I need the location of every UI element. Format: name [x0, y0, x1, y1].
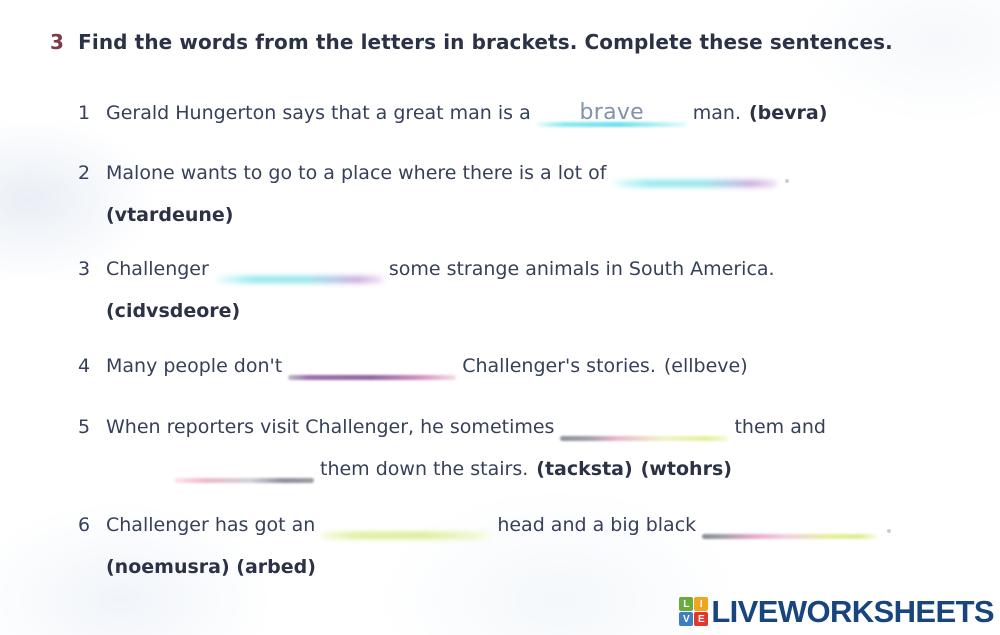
question-3-text-b: some strange animals in South America. [389, 248, 775, 290]
question-1-text-a: Gerald Hungerton says that a great man i… [106, 92, 531, 134]
cursor-dot-icon [887, 529, 891, 533]
answer-value-1: brave [579, 100, 644, 126]
answer-rule-6a [321, 532, 491, 539]
answer-rule-5b [174, 478, 314, 483]
question-2-letters: (vtardeune) [106, 194, 233, 236]
question-4-letters: (ellbeve) [664, 345, 748, 387]
question-5-number: 5 [78, 406, 98, 448]
logo-wordmark: LIVEWORKSHEETS [711, 596, 994, 627]
answer-rule-3 [215, 276, 383, 283]
question-6-number: 6 [78, 504, 98, 546]
question-5-text-c: them down the stairs. [320, 448, 528, 490]
liveworksheets-logo[interactable]: L I V E LIVEWORKSHEETS [679, 596, 994, 627]
question-6-text-a: Challenger has got an [106, 504, 315, 546]
answer-input-1[interactable]: brave [537, 99, 687, 125]
question-3-text-a: Challenger [106, 248, 209, 290]
live-badge-icon: L I V E [679, 597, 708, 626]
question-5: 5 When reporters visit Challenger, he so… [78, 406, 980, 490]
question-5-text-a: When reporters visit Challenger, he some… [106, 406, 554, 448]
answer-rule-5a [560, 436, 728, 441]
question-3-number: 3 [78, 248, 98, 290]
question-4: 4 Many people don't Challenger's stories… [78, 345, 980, 387]
answer-input-6a[interactable] [321, 511, 491, 537]
answer-rule-2 [612, 180, 777, 187]
badge-letter-v: V [679, 612, 693, 626]
answer-input-5a[interactable] [560, 413, 728, 439]
question-1-number: 1 [78, 92, 98, 134]
question-6: 6 Challenger has got an head and a big b… [78, 504, 980, 588]
badge-letter-i: I [694, 597, 708, 611]
answer-input-3[interactable] [215, 255, 383, 281]
worksheet-page: 3 Find the words from the letters in bra… [0, 0, 1000, 635]
answer-input-6b[interactable] [702, 511, 877, 537]
question-3: 3 Challenger some strange animals in Sou… [78, 248, 980, 332]
question-2: 2 Malone wants to go to a place where th… [78, 152, 980, 236]
question-2-text-a: Malone wants to go to a place where ther… [106, 152, 606, 194]
question-1-letters: (bevra) [749, 92, 827, 134]
badge-letter-e: E [694, 612, 708, 626]
exercise-number: 3 [50, 30, 64, 54]
question-4-text-b: Challenger's stories. [462, 345, 656, 387]
question-5-letters-b: (wtohrs) [641, 448, 732, 490]
question-5-text-b: them and [734, 406, 825, 448]
question-4-text-a: Many people don't [106, 345, 282, 387]
answer-input-2[interactable] [612, 159, 777, 185]
question-2-number: 2 [78, 152, 98, 194]
answer-rule-6b [702, 534, 877, 539]
question-6-text-b: head and a big black [497, 504, 696, 546]
cursor-dot-icon [785, 179, 789, 183]
question-4-number: 4 [78, 345, 98, 387]
answer-rule-4 [288, 375, 456, 380]
question-1-text-b: man. [693, 92, 741, 134]
question-5-letters-a: (tacksta) [536, 448, 632, 490]
exercise-instruction: Find the words from the letters in brack… [78, 30, 893, 54]
question-1: 1 Gerald Hungerton says that a great man… [78, 92, 980, 134]
badge-letter-l: L [679, 597, 693, 611]
question-3-letters: (cidvsdeore) [106, 290, 240, 332]
exercise-heading: 3 Find the words from the letters in bra… [50, 30, 893, 54]
answer-input-5b[interactable] [174, 455, 314, 481]
question-6-letters: (noemusra) (arbed) [106, 546, 316, 588]
answer-input-4[interactable] [288, 352, 456, 378]
